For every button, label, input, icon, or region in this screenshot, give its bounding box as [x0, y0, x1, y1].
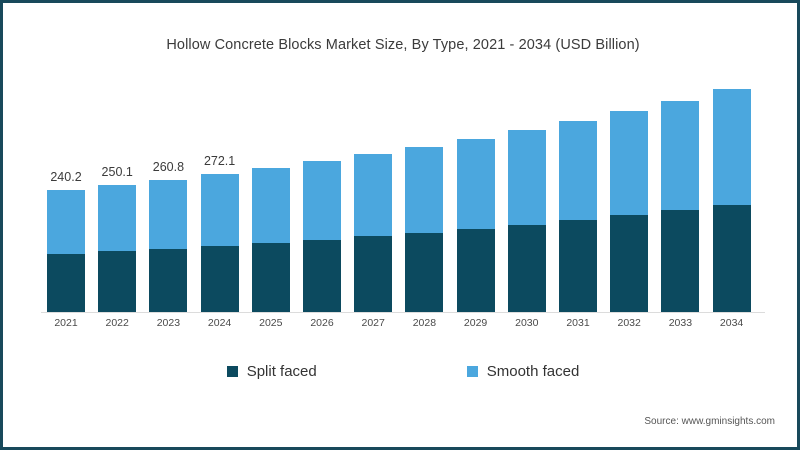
bar-group[interactable] — [508, 130, 546, 312]
bar-segment-smooth-faced[interactable] — [610, 111, 648, 215]
bar-segment-split-faced[interactable] — [405, 233, 443, 312]
bar-group[interactable]: 240.2 — [47, 190, 85, 312]
bar-segment-smooth-faced[interactable] — [303, 161, 341, 239]
x-tick-label: 2032 — [610, 317, 648, 329]
bar-segment-split-faced[interactable] — [149, 249, 187, 312]
bar-group[interactable] — [303, 161, 341, 312]
bar-segment-smooth-faced[interactable] — [98, 185, 136, 251]
legend-swatch-smooth-faced — [467, 366, 478, 377]
bar-value-label: 240.2 — [50, 170, 81, 184]
bar-segment-split-faced[interactable] — [303, 240, 341, 312]
legend-label-smooth-faced: Smooth faced — [487, 363, 580, 380]
chart-container: Hollow Concrete Blocks Market Size, By T… — [0, 0, 800, 450]
bar-segment-split-faced[interactable] — [559, 220, 597, 312]
source-attribution: Source: www.gminsights.com — [644, 416, 775, 427]
bar-group[interactable] — [252, 168, 290, 312]
x-axis-baseline — [41, 312, 765, 313]
x-tick-label: 2025 — [252, 317, 290, 329]
bar-segment-smooth-faced[interactable] — [559, 121, 597, 220]
x-tick-label: 2022 — [98, 317, 136, 329]
bar-value-label: 260.8 — [153, 160, 184, 174]
legend-label-split-faced: Split faced — [247, 363, 317, 380]
x-tick-label: 2023 — [149, 317, 187, 329]
bar-group[interactable]: 260.8 — [149, 180, 187, 312]
bar-value-label: 272.1 — [204, 154, 235, 168]
bar-segment-split-faced[interactable] — [457, 229, 495, 312]
bar-segment-split-faced[interactable] — [98, 251, 136, 312]
bar-segment-split-faced[interactable] — [508, 225, 546, 313]
legend-item-split-faced[interactable]: Split faced — [227, 363, 317, 380]
bar-segment-split-faced[interactable] — [47, 254, 85, 312]
bar-segment-smooth-faced[interactable] — [354, 154, 392, 236]
bar-segment-smooth-faced[interactable] — [405, 147, 443, 233]
bar-group[interactable]: 250.1 — [98, 185, 136, 312]
chart-legend: Split faced Smooth faced — [3, 363, 800, 380]
bar-segment-smooth-faced[interactable] — [252, 168, 290, 243]
bar-segment-smooth-faced[interactable] — [661, 101, 699, 211]
x-tick-label: 2034 — [713, 317, 751, 329]
x-tick-label: 2024 — [201, 317, 239, 329]
bar-segment-split-faced[interactable] — [252, 243, 290, 312]
legend-swatch-split-faced — [227, 366, 238, 377]
bar-segment-split-faced[interactable] — [610, 215, 648, 312]
bar-group[interactable] — [457, 139, 495, 312]
bar-segment-smooth-faced[interactable] — [713, 89, 751, 204]
bar-group[interactable] — [405, 147, 443, 312]
bar-segment-smooth-faced[interactable] — [47, 190, 85, 253]
plot-area: 240.2250.1260.8272.1 — [41, 93, 765, 313]
x-tick-label: 2030 — [508, 317, 546, 329]
bar-group[interactable]: 272.1 — [201, 174, 239, 312]
x-tick-label: 2027 — [354, 317, 392, 329]
bar-segment-smooth-faced[interactable] — [201, 174, 239, 246]
x-tick-label: 2033 — [661, 317, 699, 329]
bar-segment-smooth-faced[interactable] — [508, 130, 546, 225]
x-tick-label: 2021 — [47, 317, 85, 329]
bar-group[interactable] — [661, 101, 699, 313]
bar-segment-smooth-faced[interactable] — [457, 139, 495, 229]
x-tick-label: 2026 — [303, 317, 341, 329]
chart-title: Hollow Concrete Blocks Market Size, By T… — [3, 37, 800, 53]
x-tick-label: 2031 — [559, 317, 597, 329]
bar-group[interactable] — [559, 121, 597, 312]
bar-value-label: 250.1 — [102, 165, 133, 179]
bar-segment-smooth-faced[interactable] — [149, 180, 187, 249]
bar-group[interactable] — [354, 154, 392, 312]
x-axis-tick-labels: 2021202220232024202520262027202820292030… — [41, 317, 765, 337]
bar-segment-split-faced[interactable] — [713, 205, 751, 312]
x-tick-label: 2029 — [457, 317, 495, 329]
bar-segment-split-faced[interactable] — [201, 246, 239, 312]
bar-segment-split-faced[interactable] — [661, 210, 699, 312]
x-tick-label: 2028 — [405, 317, 443, 329]
bar-segment-split-faced[interactable] — [354, 236, 392, 312]
legend-item-smooth-faced[interactable]: Smooth faced — [467, 363, 580, 380]
bar-group[interactable] — [713, 89, 751, 312]
bar-group[interactable] — [610, 111, 648, 312]
